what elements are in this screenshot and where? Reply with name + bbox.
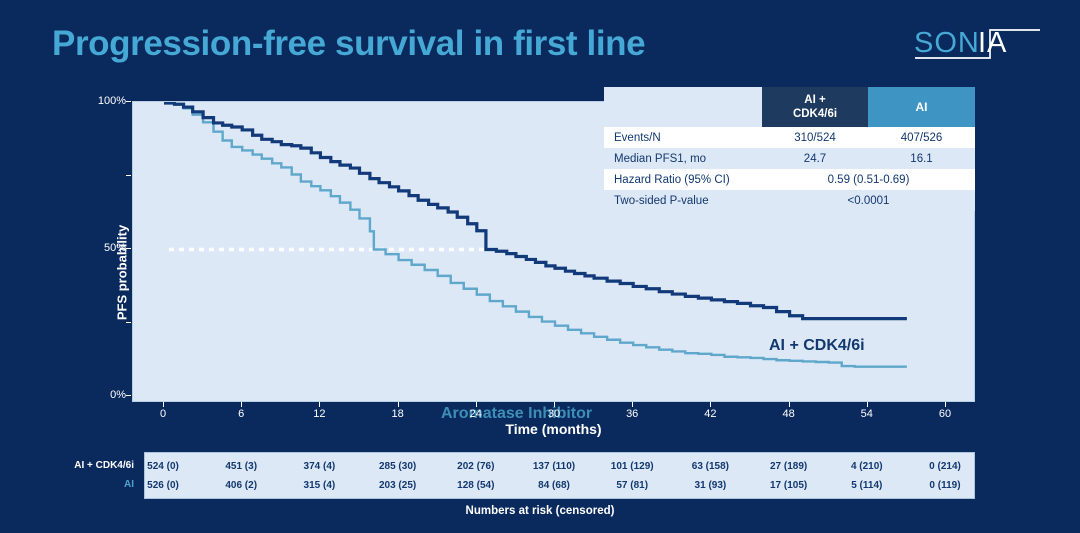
risk-cell: 5 (114) — [832, 480, 902, 491]
y-axis-title: PFS probability — [115, 193, 130, 353]
slide-root: Progression-free survival in first line … — [0, 0, 1080, 533]
x-tick-mark-42 — [710, 402, 711, 407]
table-row: Median PFS1, mo 24.7 16.1 — [604, 148, 975, 169]
risk-cell: 84 (68) — [519, 480, 589, 491]
x-tick-mark-54 — [867, 402, 868, 407]
x-tick-mark-6 — [241, 402, 242, 407]
stat-label: Median PFS1, mo — [604, 148, 762, 169]
stat-value-ai: 16.1 — [868, 148, 975, 169]
svg-text:IA: IA — [978, 27, 1007, 59]
table-header-row: AI + CDK4/6i AI — [604, 87, 975, 127]
x-tick-mark-60 — [945, 402, 946, 407]
stat-value-ai: 407/526 — [868, 127, 975, 148]
stat-value-combo: 24.7 — [762, 148, 868, 169]
risk-cell: 0 (119) — [910, 480, 980, 491]
x-tick-label-54: 54 — [847, 408, 887, 420]
stat-label: Hazard Ratio (95% CI) — [604, 169, 762, 190]
header-combo: AI + CDK4/6i — [762, 87, 868, 127]
y-tick-mark-50 — [126, 248, 131, 249]
header-combo-line2: CDK4/6i — [793, 108, 837, 120]
x-tick-label-24: 24 — [456, 408, 496, 420]
risk-cell: 57 (81) — [597, 480, 667, 491]
sonia-logo-icon: SON IA — [912, 24, 1044, 66]
y-tick-0: 0% — [78, 389, 126, 401]
statistics-table-head: AI + CDK4/6i AI — [604, 87, 975, 127]
y-tick-mark-0 — [126, 395, 131, 396]
risk-cell: 31 (93) — [675, 480, 745, 491]
stat-value-span: 0.59 (0.51-0.69) — [762, 169, 975, 190]
x-tick-label-42: 42 — [690, 408, 730, 420]
sonia-logo: SON IA — [912, 24, 1044, 66]
x-tick-label-60: 60 — [925, 408, 965, 420]
risk-cell: 0 (214) — [910, 461, 980, 472]
risk-cell: 137 (110) — [519, 461, 589, 472]
risk-row-label-combo: AI + CDK4/6i — [28, 460, 134, 471]
header-blank — [604, 87, 762, 127]
risk-cell: 526 (0) — [128, 480, 198, 491]
risk-cell: 524 (0) — [128, 461, 198, 472]
risk-cell: 128 (54) — [441, 480, 511, 491]
stat-label: Events/N — [604, 127, 762, 148]
y-axis: PFS probability 100% 50% 0% — [74, 90, 126, 410]
numbers-at-risk-box — [144, 452, 975, 499]
x-tick-mark-12 — [319, 402, 320, 407]
risk-cell: 4 (210) — [832, 461, 902, 472]
y-tick-mark-75 — [126, 175, 131, 176]
x-tick-label-30: 30 — [534, 408, 574, 420]
x-tick-label-6: 6 — [221, 408, 261, 420]
statistics-table-body: Events/N 310/524 407/526 Median PFS1, mo… — [604, 127, 975, 211]
risk-cell: 406 (2) — [206, 480, 276, 491]
x-tick-label-12: 12 — [299, 408, 339, 420]
y-tick-50: 50% — [78, 242, 126, 254]
risk-cell: 27 (189) — [754, 461, 824, 472]
risk-row-label-ai: AI — [28, 479, 134, 490]
risk-cell: 63 (158) — [675, 461, 745, 472]
y-tick-mark-100 — [126, 101, 131, 102]
x-tick-label-48: 48 — [769, 408, 809, 420]
numbers-at-risk-caption: Numbers at risk (censored) — [0, 505, 1080, 517]
x-axis-title: Time (months) — [132, 421, 975, 437]
x-tick-mark-0 — [163, 402, 164, 407]
x-tick-label-36: 36 — [612, 408, 652, 420]
risk-cell: 451 (3) — [206, 461, 276, 472]
table-row: Events/N 310/524 407/526 — [604, 127, 975, 148]
x-tick-mark-36 — [632, 402, 633, 407]
risk-cell: 202 (76) — [441, 461, 511, 472]
stat-value-combo: 310/524 — [762, 127, 868, 148]
x-tick-mark-30 — [554, 402, 555, 407]
risk-cell: 203 (25) — [363, 480, 433, 491]
svg-text:SON: SON — [914, 27, 980, 59]
header-ai: AI — [868, 87, 975, 127]
x-tick-mark-24 — [476, 402, 477, 407]
x-tick-mark-48 — [789, 402, 790, 407]
risk-cell: 315 (4) — [284, 480, 354, 491]
x-tick-label-18: 18 — [378, 408, 418, 420]
risk-cell: 101 (129) — [597, 461, 667, 472]
x-tick-label-0: 0 — [143, 408, 183, 420]
curve-label-combo: AI + CDK4/6i — [769, 337, 865, 355]
y-tick-100: 100% — [78, 95, 126, 107]
risk-cell: 374 (4) — [284, 461, 354, 472]
header-combo-line1: AI + — [804, 94, 825, 106]
risk-cell: 17 (105) — [754, 480, 824, 491]
x-tick-mark-18 — [398, 402, 399, 407]
y-tick-mark-25 — [126, 322, 131, 323]
stat-label: Two-sided P-value — [604, 190, 762, 211]
statistics-table: AI + CDK4/6i AI Events/N 310/524 407/526… — [604, 87, 975, 211]
table-row: Hazard Ratio (95% CI) 0.59 (0.51-0.69) — [604, 169, 975, 190]
risk-cell: 285 (30) — [363, 461, 433, 472]
stat-value-span: <0.0001 — [762, 190, 975, 211]
page-title: Progression-free survival in first line — [52, 24, 645, 64]
table-row: Two-sided P-value <0.0001 — [604, 190, 975, 211]
numbers-at-risk-table: AI + CDK4/6i AI 524 (0)451 (3)374 (4)285… — [28, 452, 975, 499]
